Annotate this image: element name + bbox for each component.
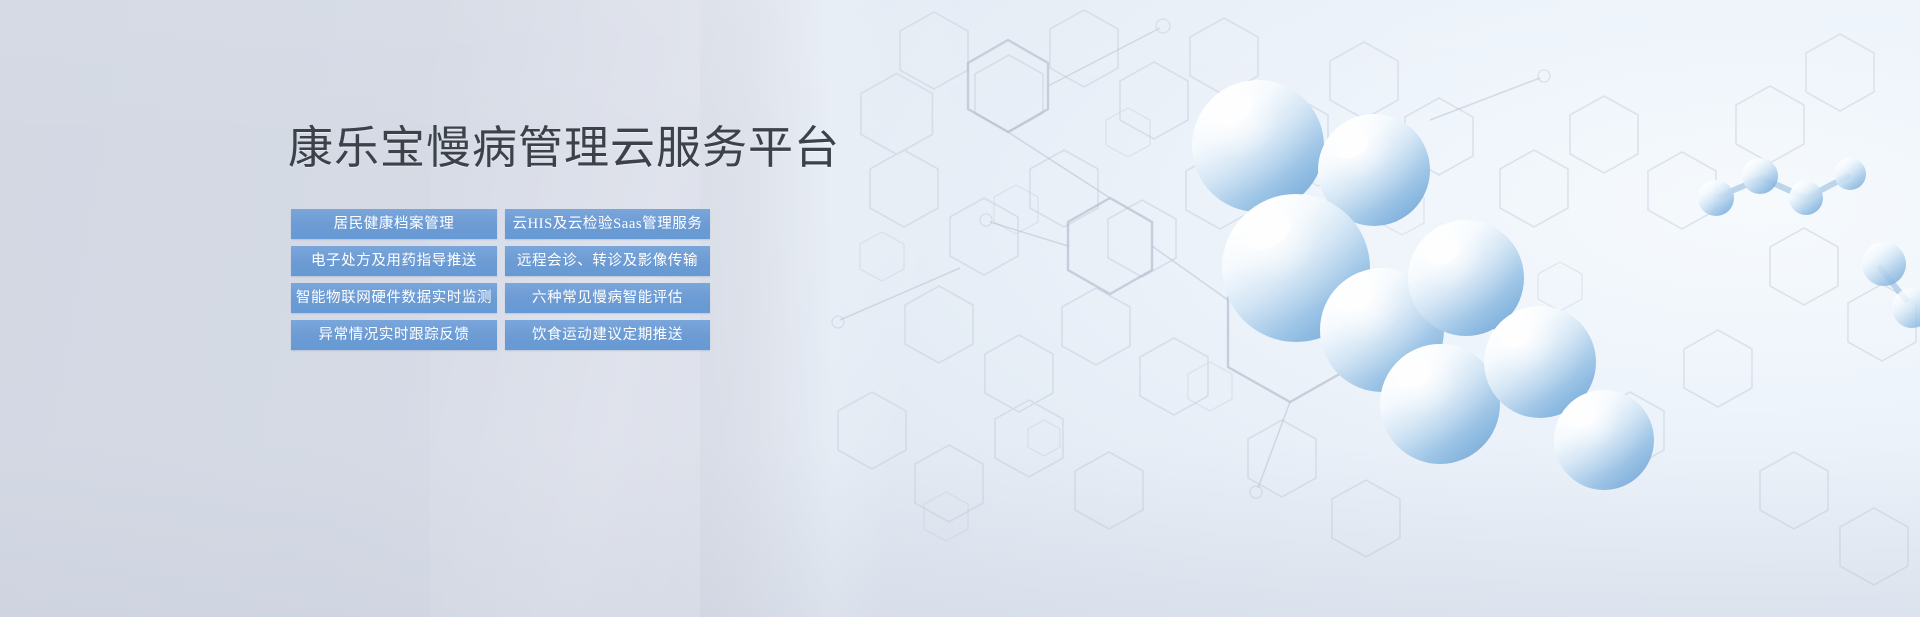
banner-content: 康乐宝慢病管理云服务平台 居民健康档案管理 云HIS及云检验Saas管理服务 电… [0,0,820,617]
feature-row: 异常情况实时跟踪反馈 饮食运动建议定期推送 [291,320,710,350]
feature-button-resident-health-record[interactable]: 居民健康档案管理 [291,209,497,239]
feature-button-eprescription-push[interactable]: 电子处方及用药指导推送 [291,246,497,276]
feature-row: 居民健康档案管理 云HIS及云检验Saas管理服务 [291,209,710,239]
banner-stage: 康乐宝慢病管理云服务平台 居民健康档案管理 云HIS及云检验Saas管理服务 电… [0,0,1920,617]
feature-button-iot-realtime-monitoring[interactable]: 智能物联网硬件数据实时监测 [291,283,497,313]
feature-button-remote-consultation[interactable]: 远程会诊、转诊及影像传输 [505,246,710,276]
feature-row: 智能物联网硬件数据实时监测 六种常见慢病智能评估 [291,283,710,313]
feature-button-chronic-disease-assessment[interactable]: 六种常见慢病智能评估 [505,283,710,313]
feature-row: 电子处方及用药指导推送 远程会诊、转诊及影像传输 [291,246,710,276]
feature-button-diet-exercise-advice[interactable]: 饮食运动建议定期推送 [505,320,710,350]
background-right-panel [760,0,1920,617]
feature-grid: 居民健康档案管理 云HIS及云检验Saas管理服务 电子处方及用药指导推送 远程… [291,209,710,350]
page-title: 康乐宝慢病管理云服务平台 [288,118,840,178]
feature-button-cloud-his-saas[interactable]: 云HIS及云检验Saas管理服务 [505,209,710,239]
feature-button-abnormal-tracking[interactable]: 异常情况实时跟踪反馈 [291,320,497,350]
